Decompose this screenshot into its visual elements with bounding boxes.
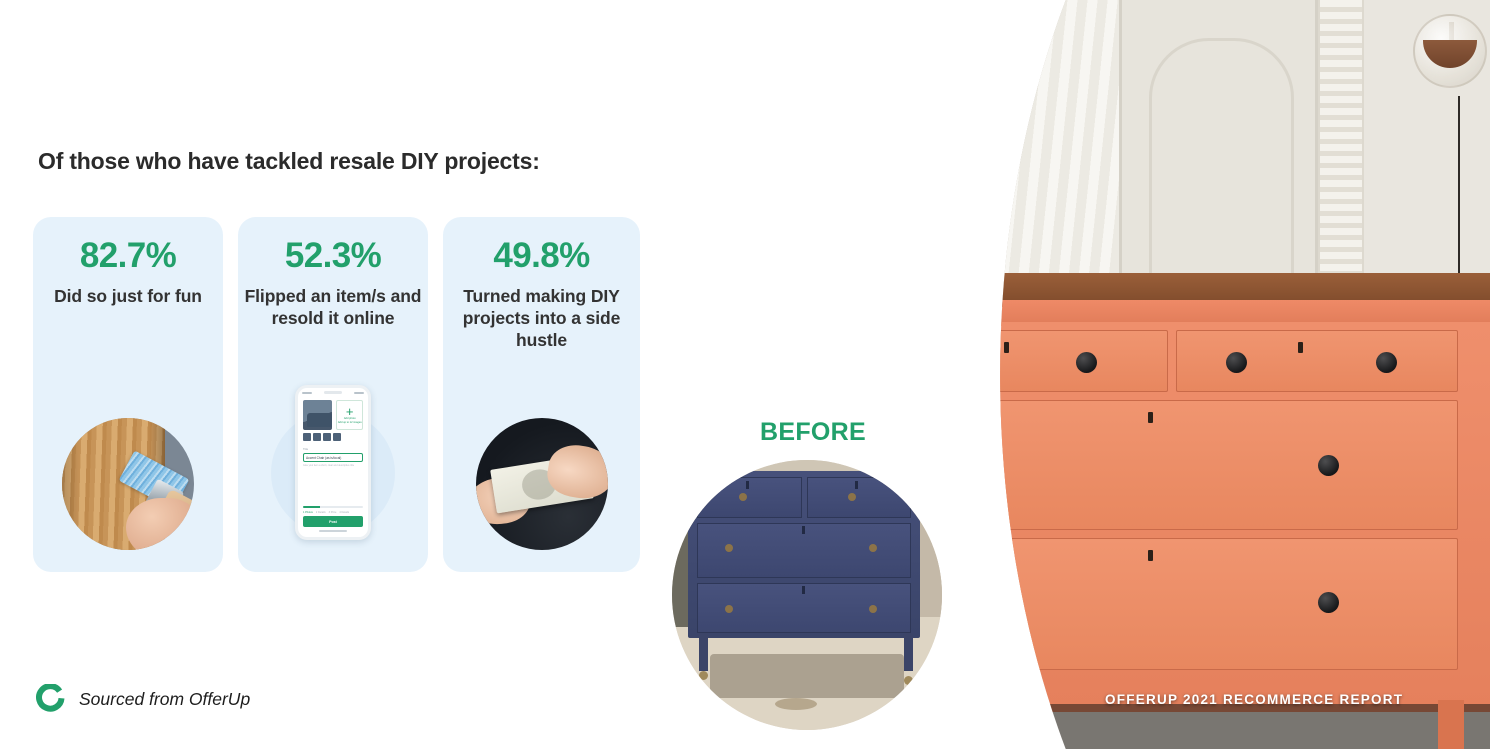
add-photo-label: Add photo bbox=[344, 417, 356, 420]
card-media: + Add photo Add up to 12 images Title Ac bbox=[267, 375, 399, 550]
stat-label: Did so just for fun bbox=[48, 285, 208, 307]
add-photo-button[interactable]: + Add photo Add up to 12 images bbox=[336, 400, 363, 430]
infographic-page: Of those who have tackled resale DIY pro… bbox=[0, 0, 1490, 749]
listing-photo-thumbnail bbox=[303, 400, 332, 430]
report-credit: OFFERUP 2021 RECOMMERCE REPORT bbox=[1105, 692, 1403, 707]
stat-percent: 49.8% bbox=[493, 237, 589, 276]
step-3: 3 Price bbox=[329, 511, 337, 514]
stat-card-side-hustle: 49.8% Turned making DIY projects into a … bbox=[443, 217, 640, 572]
post-button[interactable]: Post bbox=[303, 516, 363, 527]
source-label: Sourced from OfferUp bbox=[79, 689, 250, 710]
stat-card-fun: 82.7% Did so just for fun bbox=[33, 217, 223, 572]
photo-thumbnail-strip[interactable] bbox=[303, 433, 363, 441]
before-label: BEFORE bbox=[760, 418, 866, 447]
title-input[interactable]: Accent Chair (as is/local) bbox=[303, 453, 363, 462]
progress-bar bbox=[303, 506, 363, 508]
add-photo-hint: Add up to 12 images bbox=[338, 421, 362, 424]
step-indicator: 1 Photos 2 Details 3 Price 4 Details bbox=[303, 511, 363, 514]
card-media bbox=[476, 418, 608, 550]
page-title: Of those who have tackled resale DIY pro… bbox=[38, 148, 540, 175]
offerup-ring-logo-icon bbox=[36, 684, 66, 714]
title-field-label: Title bbox=[303, 447, 363, 451]
stat-percent: 52.3% bbox=[285, 237, 381, 276]
hands-exchanging-money-photo bbox=[476, 418, 608, 550]
stat-label: Turned making DIY projects into a side h… bbox=[443, 285, 640, 352]
stat-percent: 82.7% bbox=[80, 237, 176, 276]
step-4: 4 Details bbox=[339, 511, 349, 514]
home-indicator bbox=[319, 530, 347, 532]
phone-status-bar bbox=[298, 388, 368, 397]
card-media bbox=[62, 418, 194, 550]
plus-icon: + bbox=[346, 407, 354, 416]
stat-label: Flipped an item/s and resold it online bbox=[238, 285, 428, 330]
stat-card-group: 82.7% Did so just for fun 52.3% Flipped … bbox=[33, 217, 640, 572]
title-field-hint: Give your item a short, clear and descri… bbox=[303, 464, 363, 467]
source-attribution: Sourced from OfferUp bbox=[36, 684, 250, 714]
navy-blue-dresser-before-photo bbox=[672, 460, 942, 730]
step-2: 2 Details bbox=[316, 511, 326, 514]
paint-brush-photo bbox=[62, 418, 194, 550]
offerup-app-phone-mockup: + Add photo Add up to 12 images Title Ac bbox=[267, 375, 399, 550]
step-1: 1 Photos bbox=[303, 511, 313, 514]
stat-card-flipped: 52.3% Flipped an item/s and resold it on… bbox=[238, 217, 428, 572]
